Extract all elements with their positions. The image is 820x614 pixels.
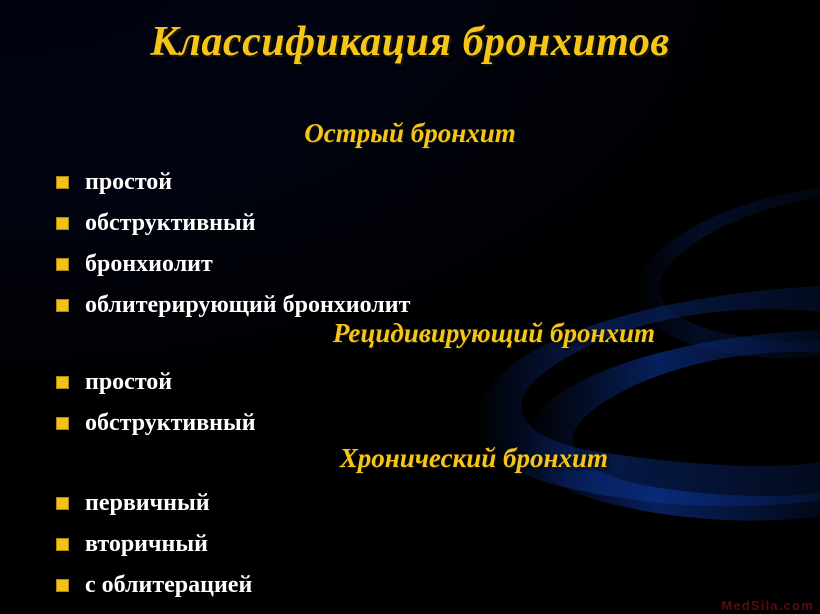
- list-item: обструктивный: [56, 403, 256, 444]
- square-bullet-icon: [56, 417, 69, 430]
- square-bullet-icon: [56, 258, 69, 271]
- list-item: простой: [56, 362, 256, 403]
- square-bullet-icon: [56, 176, 69, 189]
- list-item: вторичный: [56, 524, 252, 565]
- square-bullet-icon: [56, 299, 69, 312]
- slide-canvas: Классификация бронхитов Острый бронхит п…: [0, 0, 820, 614]
- list-item-label: вторичный: [85, 531, 208, 558]
- list-item-label: с облитерацией: [85, 572, 252, 599]
- slide-title: Классификация бронхитов: [0, 18, 820, 66]
- list-item: обструктивный: [56, 203, 410, 244]
- square-bullet-icon: [56, 579, 69, 592]
- section-heading-chronic: Хронический бронхит: [0, 443, 608, 474]
- bullet-list-chronic: первичный вторичный с облитерацией: [56, 483, 252, 606]
- list-item-label: бронхиолит: [85, 251, 213, 278]
- list-item: бронхиолит: [56, 244, 410, 285]
- watermark: MedSila.com: [721, 598, 814, 613]
- bullet-list-acute: простой обструктивный бронхиолит облитер…: [56, 162, 410, 326]
- list-item-label: простой: [85, 169, 172, 196]
- square-bullet-icon: [56, 497, 69, 510]
- square-bullet-icon: [56, 376, 69, 389]
- list-item-label: первичный: [85, 490, 210, 517]
- list-item-label: обструктивный: [85, 210, 256, 237]
- list-item: простой: [56, 162, 410, 203]
- list-item: первичный: [56, 483, 252, 524]
- section-heading-acute: Острый бронхит: [0, 118, 820, 149]
- list-item-label: облитерирующий бронхиолит: [85, 292, 410, 319]
- list-item-label: простой: [85, 369, 172, 396]
- section-heading-recurrent: Рецидивирующий бронхит: [0, 318, 655, 349]
- square-bullet-icon: [56, 217, 69, 230]
- list-item: с облитерацией: [56, 565, 252, 606]
- square-bullet-icon: [56, 538, 69, 551]
- bullet-list-recurrent: простой обструктивный: [56, 362, 256, 444]
- list-item-label: обструктивный: [85, 410, 256, 437]
